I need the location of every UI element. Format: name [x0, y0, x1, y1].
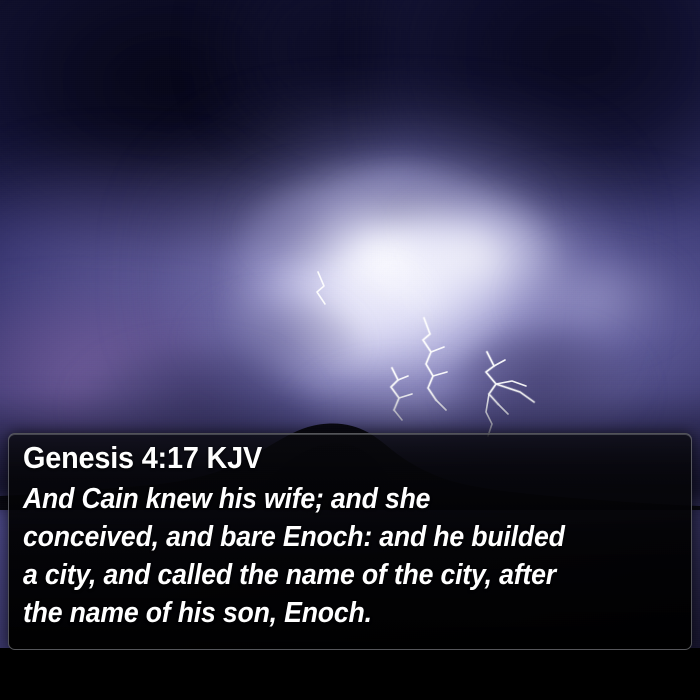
verse-line: And Cain knew his wife; and she — [23, 480, 640, 518]
verse-text: And Cain knew his wife; and she conceive… — [23, 480, 683, 632]
verse-reference: Genesis 4:17 KJV — [23, 438, 637, 478]
verse-panel-content: Genesis 4:17 KJV And Cain knew his wife;… — [23, 438, 683, 632]
verse-image-canvas: Genesis 4:17 KJV And Cain knew his wife;… — [0, 0, 700, 700]
verse-line: a city, and called the name of the city,… — [23, 556, 640, 594]
verse-line: the name of his son, Enoch. — [23, 594, 640, 632]
verse-panel: Genesis 4:17 KJV And Cain knew his wife;… — [8, 433, 692, 650]
footer-black-bar — [0, 648, 700, 700]
verse-line: conceived, and bare Enoch: and he builde… — [23, 518, 640, 556]
